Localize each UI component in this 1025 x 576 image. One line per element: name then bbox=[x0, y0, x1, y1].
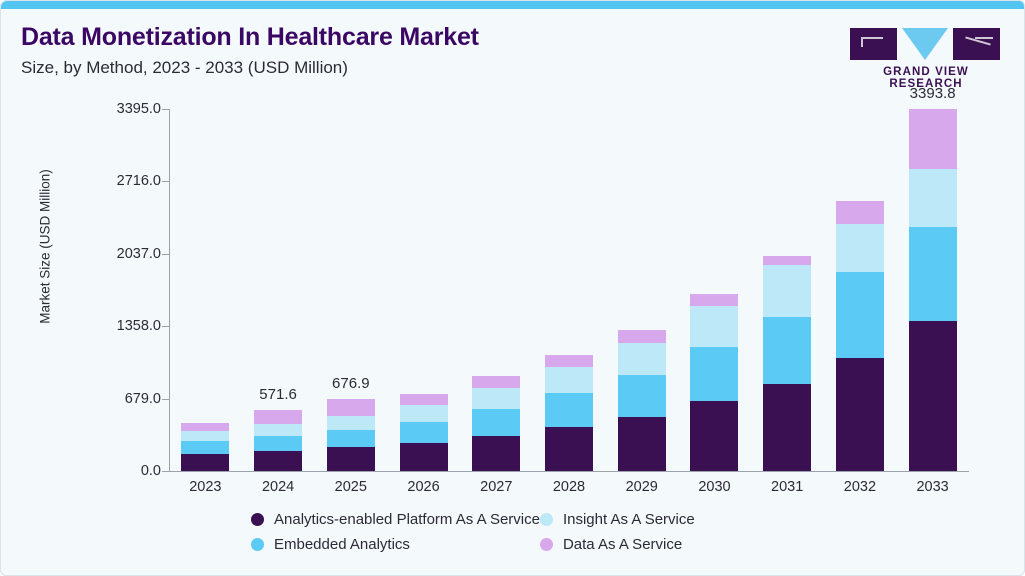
legend-label: Embedded Analytics bbox=[274, 536, 410, 553]
bar-segment[interactable] bbox=[836, 224, 884, 272]
y-axis-tick-label: 2716.0 bbox=[81, 173, 161, 189]
x-axis-tick-label: 2030 bbox=[698, 479, 730, 495]
bar-segment[interactable] bbox=[618, 330, 666, 343]
bar-segment[interactable] bbox=[400, 394, 448, 405]
bar-segment[interactable] bbox=[254, 410, 302, 424]
y-axis-tick-mark bbox=[162, 109, 169, 110]
chart-card: Data Monetization In Healthcare Market S… bbox=[0, 0, 1025, 576]
bar-segment[interactable] bbox=[400, 422, 448, 443]
bar-group[interactable] bbox=[181, 423, 229, 471]
bar-segment[interactable] bbox=[181, 454, 229, 471]
bar-segment[interactable] bbox=[400, 443, 448, 471]
legend-swatch-icon bbox=[540, 538, 553, 551]
bar-segment[interactable] bbox=[545, 393, 593, 427]
x-axis-tick-label: 2026 bbox=[407, 479, 439, 495]
bar-group[interactable]: 3393.8 bbox=[909, 109, 957, 471]
bar-segment[interactable] bbox=[254, 451, 302, 471]
y-axis-tick-mark bbox=[162, 471, 169, 472]
bar-segment[interactable] bbox=[181, 423, 229, 431]
bar-group[interactable] bbox=[690, 294, 738, 471]
bar-group[interactable] bbox=[763, 256, 811, 471]
bar-segment[interactable] bbox=[836, 358, 884, 471]
legend-item[interactable]: Insight As A Service bbox=[540, 511, 811, 528]
bar-segment[interactable] bbox=[909, 109, 957, 169]
bar-segment[interactable] bbox=[690, 294, 738, 306]
plot-area: Market Size (USD Million) 0.0679.01358.0… bbox=[1, 1, 1025, 576]
x-axis-tick-label: 2028 bbox=[553, 479, 585, 495]
bar-segment[interactable] bbox=[327, 430, 375, 448]
x-axis-tick-label: 2029 bbox=[626, 479, 658, 495]
x-axis-tick-label: 2031 bbox=[771, 479, 803, 495]
bar-group[interactable] bbox=[400, 394, 448, 471]
x-axis-tick-label: 2023 bbox=[189, 479, 221, 495]
legend-swatch-icon bbox=[540, 513, 553, 526]
bar-group[interactable] bbox=[472, 376, 520, 471]
bar-segment[interactable] bbox=[618, 343, 666, 375]
bar-segment[interactable] bbox=[472, 376, 520, 388]
bar-segment[interactable] bbox=[909, 227, 957, 321]
x-axis-line bbox=[169, 471, 969, 472]
bar-segment[interactable] bbox=[763, 317, 811, 384]
bar-group[interactable] bbox=[618, 330, 666, 471]
bar-segment[interactable] bbox=[327, 447, 375, 471]
y-axis-tick-label: 3395.0 bbox=[81, 101, 161, 117]
legend-label: Insight As A Service bbox=[563, 511, 695, 528]
bar-value-label: 676.9 bbox=[332, 375, 370, 392]
y-axis-title: Market Size (USD Million) bbox=[38, 127, 53, 367]
x-axis-tick-label: 2032 bbox=[844, 479, 876, 495]
bar-segment[interactable] bbox=[472, 388, 520, 409]
bar-segment[interactable] bbox=[690, 401, 738, 471]
bar-segment[interactable] bbox=[327, 399, 375, 416]
bar-group[interactable] bbox=[836, 201, 884, 471]
bar-segment[interactable] bbox=[545, 367, 593, 393]
y-axis-tick-label: 0.0 bbox=[81, 463, 161, 479]
bar-value-label: 3393.8 bbox=[910, 85, 956, 102]
legend-swatch-icon bbox=[251, 513, 264, 526]
bar-segment[interactable] bbox=[400, 405, 448, 421]
bar-segment[interactable] bbox=[618, 375, 666, 416]
bar-segment[interactable] bbox=[181, 441, 229, 454]
legend-label: Data As A Service bbox=[563, 536, 682, 553]
bar-segment[interactable] bbox=[836, 201, 884, 224]
bar-segment[interactable] bbox=[690, 347, 738, 401]
legend-item[interactable]: Embedded Analytics bbox=[251, 536, 540, 553]
chart-legend: Analytics-enabled Platform As A ServiceI… bbox=[251, 511, 811, 553]
legend-item[interactable]: Data As A Service bbox=[540, 536, 811, 553]
y-axis-tick-mark bbox=[162, 326, 169, 327]
bar-segment[interactable] bbox=[836, 272, 884, 358]
bar-segment[interactable] bbox=[545, 427, 593, 471]
bar-segment[interactable] bbox=[254, 436, 302, 451]
bar-group[interactable] bbox=[545, 355, 593, 471]
legend-swatch-icon bbox=[251, 538, 264, 551]
y-axis-tick-label: 1358.0 bbox=[81, 318, 161, 334]
y-axis-tick-label: 679.0 bbox=[81, 391, 161, 407]
bar-segment[interactable] bbox=[763, 265, 811, 317]
y-axis-tick-mark bbox=[162, 254, 169, 255]
x-axis-tick-label: 2027 bbox=[480, 479, 512, 495]
bar-segment[interactable] bbox=[690, 306, 738, 347]
bar-segment[interactable] bbox=[472, 436, 520, 471]
x-axis-tick-label: 2025 bbox=[335, 479, 367, 495]
legend-item[interactable]: Analytics-enabled Platform As A Service bbox=[251, 511, 540, 528]
bar-segment[interactable] bbox=[545, 355, 593, 366]
bar-segment[interactable] bbox=[763, 256, 811, 265]
x-axis-tick-label: 2024 bbox=[262, 479, 294, 495]
y-axis-tick-mark bbox=[162, 181, 169, 182]
bar-value-label: 571.6 bbox=[259, 386, 297, 403]
bar-segment[interactable] bbox=[472, 409, 520, 436]
bar-segment[interactable] bbox=[909, 169, 957, 227]
bar-segment[interactable] bbox=[909, 321, 957, 471]
x-axis-tick-label: 2033 bbox=[916, 479, 948, 495]
bar-group[interactable]: 571.6 bbox=[254, 410, 302, 471]
bar-segment[interactable] bbox=[254, 424, 302, 436]
y-axis-tick-label: 2037.0 bbox=[81, 246, 161, 262]
bar-segment[interactable] bbox=[763, 384, 811, 471]
y-axis-line bbox=[169, 109, 170, 471]
bar-segment[interactable] bbox=[618, 417, 666, 471]
y-axis-tick-mark bbox=[162, 399, 169, 400]
bar-segment[interactable] bbox=[327, 416, 375, 430]
bar-segment[interactable] bbox=[181, 431, 229, 441]
legend-label: Analytics-enabled Platform As A Service bbox=[274, 511, 540, 528]
bar-group[interactable]: 676.9 bbox=[327, 399, 375, 471]
